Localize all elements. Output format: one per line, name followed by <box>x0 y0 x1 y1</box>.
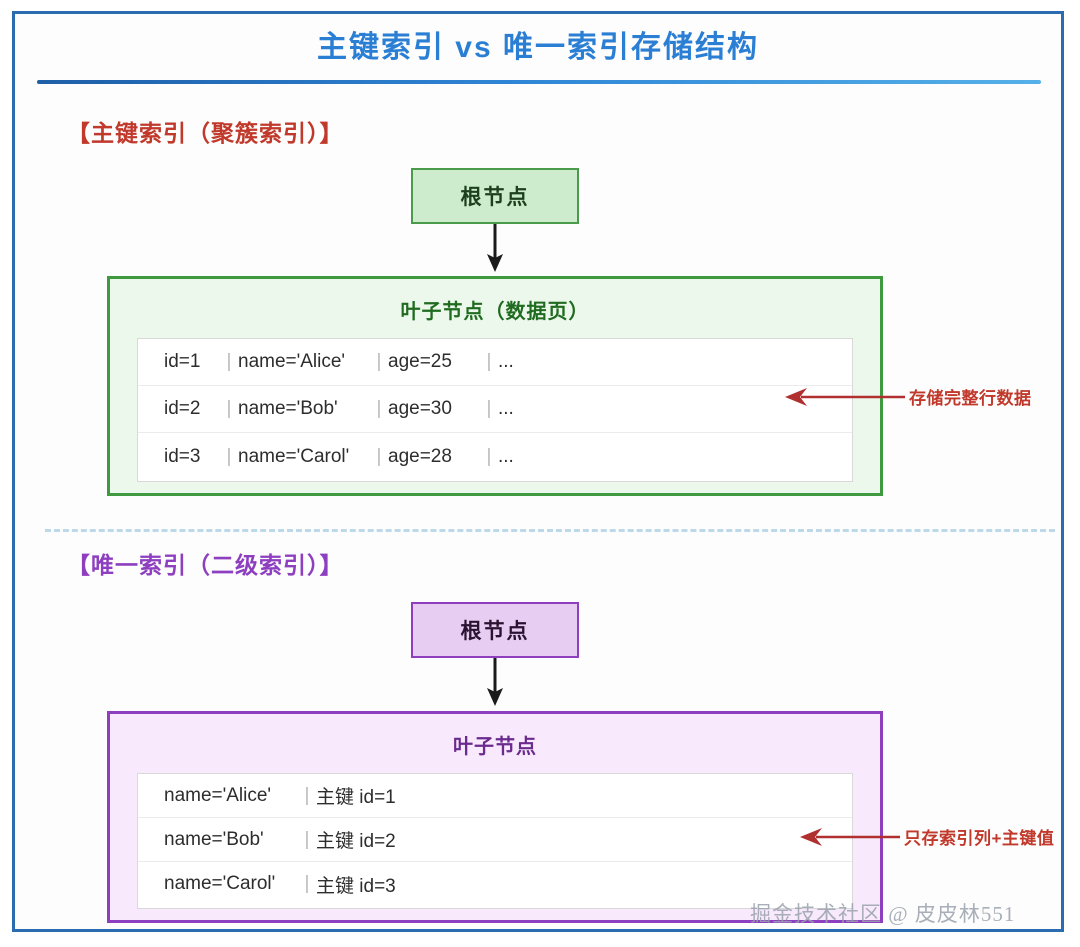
cell-age: age=30 <box>388 398 480 420</box>
cell-more: ... <box>498 351 514 373</box>
cell-id: id=3 <box>164 446 220 468</box>
diagram-frame: 主键索引 vs 唯一索引存储结构 【主键索引（聚簇索引）】 根节点 叶子节点（数… <box>12 11 1064 932</box>
title-block: 主键索引 vs 唯一索引存储结构 <box>15 28 1061 68</box>
cell-separator: | <box>298 829 316 851</box>
cell-more: ... <box>498 446 514 468</box>
left-arrow-icon <box>785 386 905 408</box>
cell-age: age=28 <box>388 446 480 468</box>
primary-root-node-label: 根节点 <box>461 181 530 211</box>
primary-down-arrow-icon <box>482 224 508 272</box>
section-label-primary-index: 【主键索引（聚簇索引）】 <box>67 114 344 148</box>
primary-annotation: 存储完整行数据 <box>785 384 1032 409</box>
unique-leaf-title: 叶子节点 <box>110 730 880 759</box>
section-divider <box>45 529 1055 532</box>
cell-name: name='Carol' <box>164 873 298 895</box>
unique-down-arrow-icon <box>482 658 508 706</box>
cell-separator: | <box>480 351 498 373</box>
cell-name: name='Carol' <box>238 446 370 468</box>
unique-root-node-label: 根节点 <box>461 615 530 645</box>
cell-separator: | <box>220 351 238 373</box>
table-row: name='Carol' | 主键 id=3 <box>138 862 852 906</box>
cell-id: id=2 <box>164 398 220 420</box>
cell-separator: | <box>298 785 316 807</box>
cell-age: age=25 <box>388 351 480 373</box>
cell-separator: | <box>480 446 498 468</box>
cell-separator: | <box>370 351 388 373</box>
unique-annotation-text: 只存索引列+主键值 <box>904 824 1054 849</box>
unique-rows-box: name='Alice' | 主键 id=1 name='Bob' | 主键 i… <box>137 773 853 909</box>
cell-separator: | <box>298 873 316 895</box>
cell-separator: | <box>370 446 388 468</box>
cell-name: name='Bob' <box>238 398 370 420</box>
cell-name: name='Bob' <box>164 829 298 851</box>
cell-separator: | <box>220 446 238 468</box>
cell-primary-key: 主键 id=1 <box>316 782 396 809</box>
primary-annotation-text: 存储完整行数据 <box>909 384 1032 409</box>
cell-primary-key: 主键 id=3 <box>316 871 396 898</box>
unique-annotation: 只存索引列+主键值 <box>800 824 1054 849</box>
unique-leaf-container: 叶子节点 name='Alice' | 主键 id=1 name='Bob' |… <box>107 711 883 923</box>
cell-name: name='Alice' <box>238 351 370 373</box>
unique-root-node: 根节点 <box>411 602 579 658</box>
cell-id: id=1 <box>164 351 220 373</box>
title-divider-rule <box>37 80 1041 84</box>
cell-separator: | <box>370 398 388 420</box>
left-arrow-icon <box>800 826 900 848</box>
section-label-unique-index: 【唯一索引（二级索引）】 <box>67 546 344 580</box>
cell-primary-key: 主键 id=2 <box>316 826 396 853</box>
primary-leaf-container: 叶子节点（数据页） id=1 | name='Alice' | age=25 |… <box>107 276 883 496</box>
table-row: name='Alice' | 主键 id=1 <box>138 774 852 818</box>
cell-more: ... <box>498 398 514 420</box>
primary-leaf-title: 叶子节点（数据页） <box>110 295 880 324</box>
table-row: id=2 | name='Bob' | age=30 | ... <box>138 386 852 433</box>
primary-root-node: 根节点 <box>411 168 579 224</box>
cell-name: name='Alice' <box>164 785 298 807</box>
cell-separator: | <box>220 398 238 420</box>
watermark: 掘金技术社区 @ 皮皮林551 <box>750 898 1015 928</box>
page-title: 主键索引 vs 唯一索引存储结构 <box>15 28 1061 68</box>
table-row: id=1 | name='Alice' | age=25 | ... <box>138 339 852 386</box>
table-row: name='Bob' | 主键 id=2 <box>138 818 852 862</box>
table-row: id=3 | name='Carol' | age=28 | ... <box>138 433 852 480</box>
primary-rows-box: id=1 | name='Alice' | age=25 | ... id=2 … <box>137 338 853 482</box>
cell-separator: | <box>480 398 498 420</box>
